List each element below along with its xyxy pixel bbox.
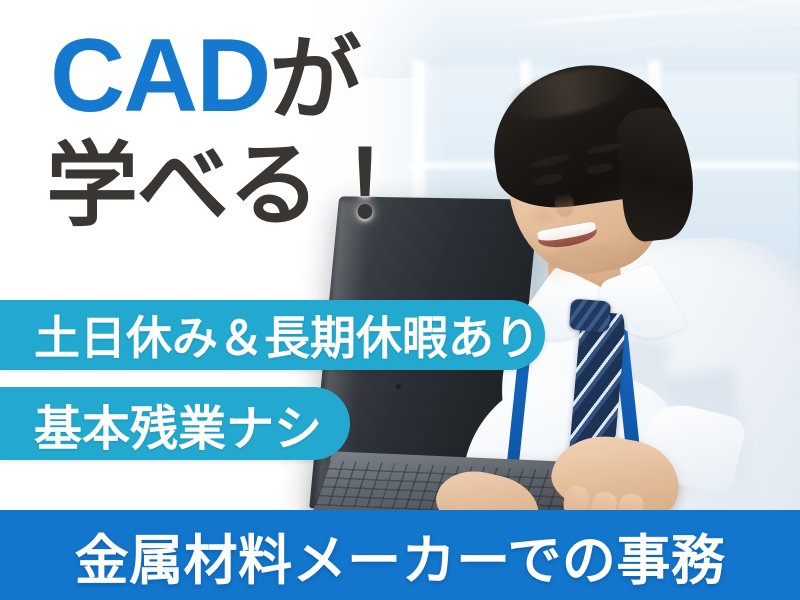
job-ad-banner: CADが 学べる！ 土日休み＆長期休暇あり 基本残業ナシ 金属材料メーカーでの事… xyxy=(0,0,800,600)
hair-side xyxy=(613,105,698,244)
bottom-job-title-label: 金属材料メーカーでの事務 xyxy=(75,516,726,595)
bottom-job-title-bar: 金属材料メーカーでの事務 xyxy=(0,510,800,600)
headline-line-1: CADが xyxy=(50,26,360,128)
headline-line-2: 学べる！ xyxy=(46,140,410,232)
necktie-knot xyxy=(569,299,611,333)
headline-particle-text: が xyxy=(269,29,360,131)
headline-cad-text: CAD xyxy=(50,18,269,134)
benefit-badge-no-overtime: 基本残業ナシ xyxy=(0,387,350,460)
monitor-indicator xyxy=(396,384,401,389)
benefit-badge-holidays-label: 土日休み＆長期休暇あり xyxy=(0,302,566,368)
benefit-badge-holidays: 土日休み＆長期休暇あり xyxy=(0,300,545,370)
benefit-badge-no-overtime-label: 基本残業ナシ xyxy=(0,389,348,459)
